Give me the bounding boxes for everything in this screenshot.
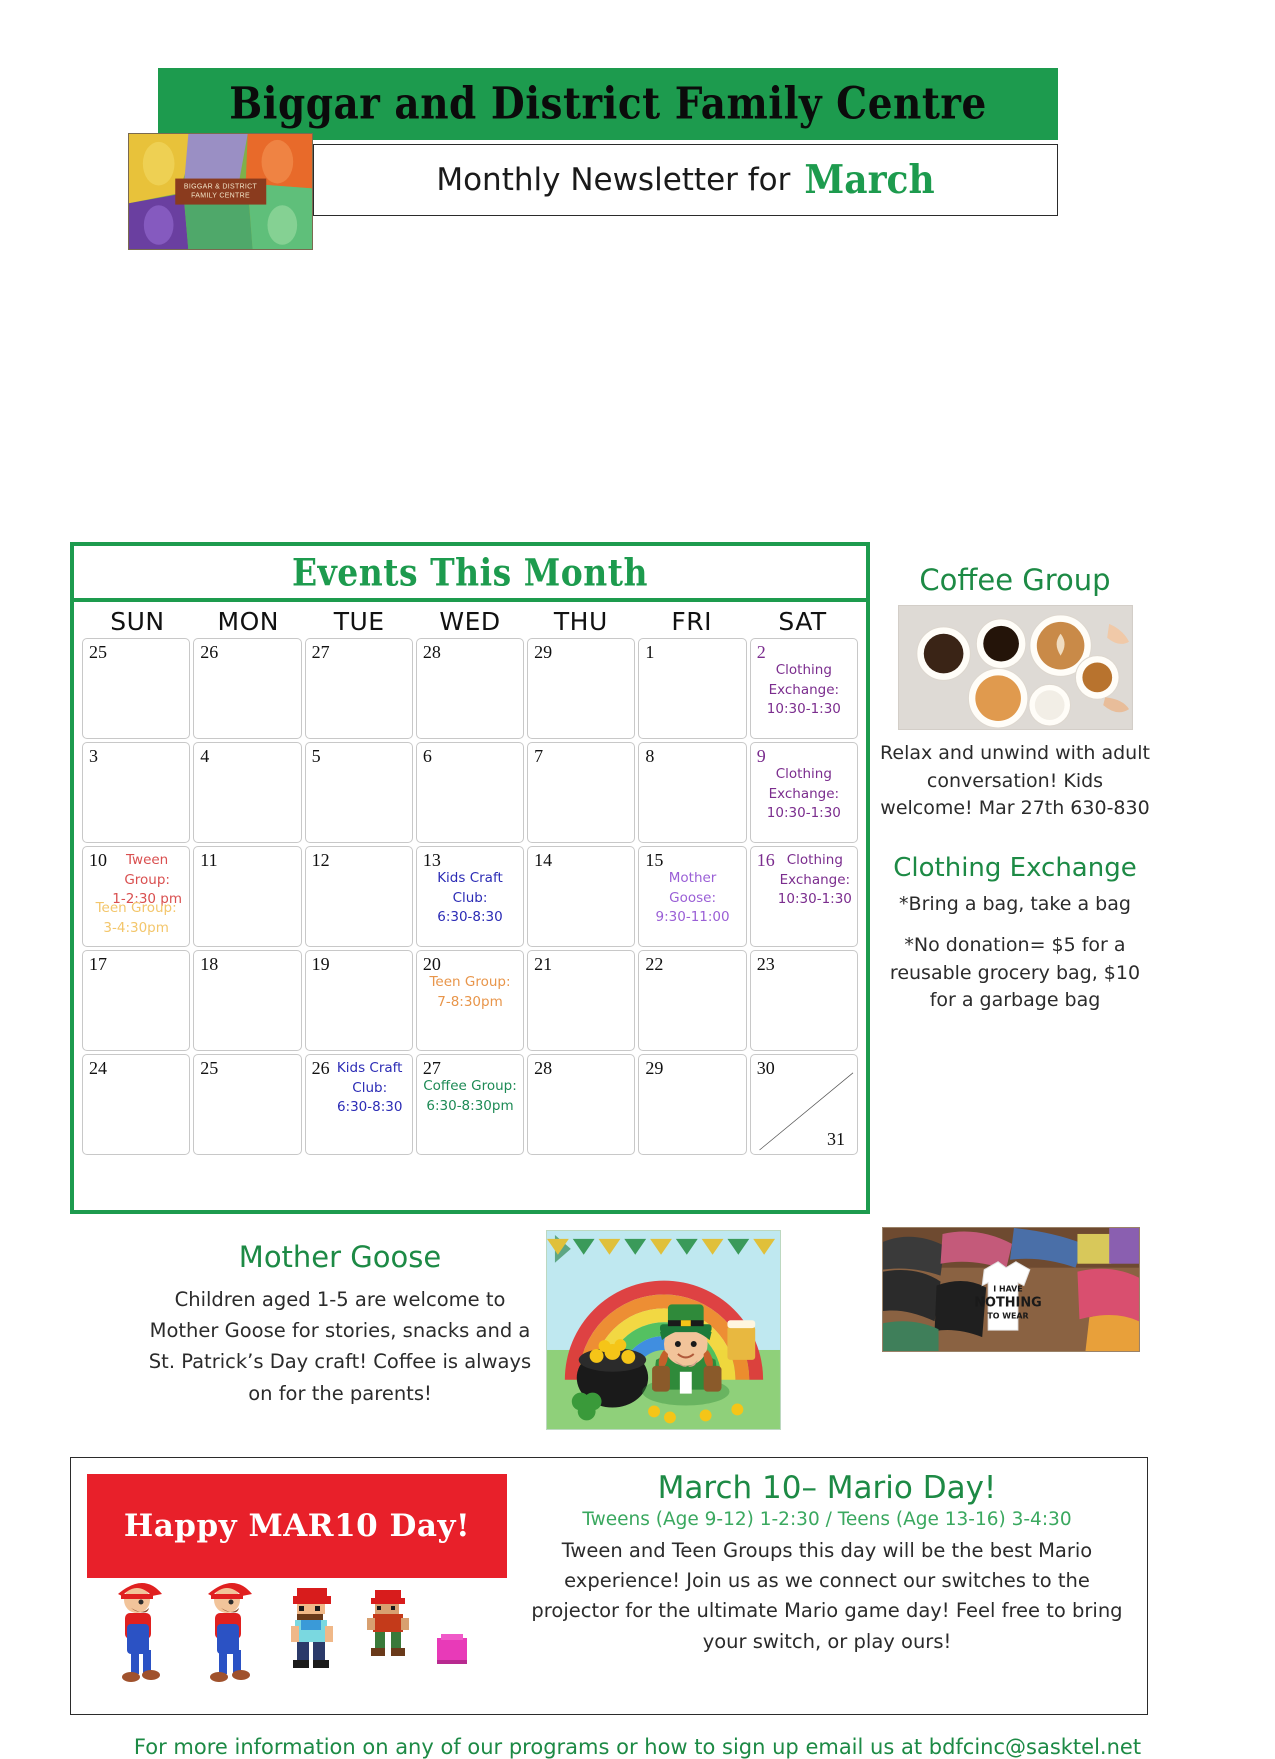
day-number: 10 — [89, 850, 107, 871]
calendar-day-cell[interactable]: 10Tween Group: 1-2:30 pmTeen Group: 3-4:… — [82, 846, 190, 947]
day-header-mon: MON — [193, 607, 304, 636]
calendar-week-row: 17181920Teen Group: 7-8:30pm212223 — [82, 950, 858, 1051]
day-number: 6 — [423, 746, 432, 767]
day-number: 14 — [534, 850, 552, 871]
day-number: 29 — [534, 642, 552, 663]
calendar-day-cell[interactable]: 28 — [527, 1054, 635, 1155]
mario-banner-text: Happy MAR10 Day! — [124, 1508, 470, 1544]
calendar-day-cell[interactable]: 19 — [305, 950, 413, 1051]
calendar-day-cell[interactable]: 12 — [305, 846, 413, 947]
mario-day-box: Happy MAR10 Day! — [70, 1457, 1148, 1715]
logo-text: BIGGAR & DISTRICT FAMILY CENTRE — [175, 178, 267, 205]
day-event-text: Clothing Exchange: 10:30-1:30 — [753, 661, 855, 720]
calendar-day-cell[interactable]: 29 — [527, 638, 635, 739]
calendar-day-cell[interactable]: 29 — [638, 1054, 746, 1155]
day-event-text: Coffee Group: 6:30-8:30pm — [419, 1077, 521, 1116]
day-number: 18 — [200, 954, 218, 975]
day-header-sat: SAT — [747, 607, 858, 636]
calendar-day-cell[interactable]: 20Teen Group: 7-8:30pm — [416, 950, 524, 1051]
calendar-day-cell[interactable]: 23 — [750, 950, 858, 1051]
org-title: Biggar and District Family Centre — [229, 78, 987, 130]
footer-contact-text: For more information on any of our progr… — [0, 1735, 1275, 1759]
leprechaun-rainbow-artwork — [547, 1231, 780, 1429]
clothing-exchange-line2: *No donation= $5 for a reusable grocery … — [880, 932, 1150, 1015]
day-number: 29 — [645, 1058, 663, 1079]
day-event-text: Teen Group: 7-8:30pm — [419, 973, 521, 1012]
calendar-day-cell[interactable]: 6 — [416, 742, 524, 843]
calendar-day-cell[interactable]: 3 — [82, 742, 190, 843]
calendar-day-cell[interactable]: 25 — [82, 638, 190, 739]
calendar-day-cell[interactable]: 3031 — [750, 1054, 858, 1155]
coffee-cups-illustration — [899, 606, 1132, 730]
coffee-cups-photo — [898, 605, 1133, 730]
calendar-day-cell[interactable]: 9Clothing Exchange: 10:30-1:30 — [750, 742, 858, 843]
calendar-day-cell[interactable]: 11 — [193, 846, 301, 947]
day-number: 28 — [534, 1058, 552, 1079]
events-calendar: Events This Month SUN MON TUE WED THU FR… — [70, 542, 870, 1214]
day-number: 17 — [89, 954, 107, 975]
coffee-group-heading: Coffee Group — [880, 563, 1150, 597]
day-number: 23 — [757, 954, 775, 975]
day-number: 25 — [200, 1058, 218, 1079]
calendar-week-row: 3456789Clothing Exchange: 10:30-1:30 — [82, 742, 858, 843]
day-number: 4 — [200, 746, 209, 767]
calendar-day-cell[interactable]: 15Mother Goose: 9:30-11:00 — [638, 846, 746, 947]
mother-goose-section: Mother Goose Children aged 1-5 are welco… — [145, 1240, 535, 1409]
mother-goose-body: Children aged 1-5 are welcome to Mother … — [145, 1284, 535, 1409]
day-header-wed: WED — [415, 607, 526, 636]
calendar-day-cell[interactable]: 27Coffee Group: 6:30-8:30pm — [416, 1054, 524, 1155]
day-number: 27 — [312, 642, 330, 663]
calendar-week-row: 242526Kids Craft Club: 6:30-8:3027Coffee… — [82, 1054, 858, 1155]
day-number: 19 — [312, 954, 330, 975]
calendar-day-cell[interactable]: 18 — [193, 950, 301, 1051]
mario-day-image: Happy MAR10 Day! — [87, 1474, 507, 1698]
day-number: 24 — [89, 1058, 107, 1079]
day-number: 2 — [757, 642, 766, 663]
calendar-title-bar: Events This Month — [74, 546, 866, 602]
clothing-pile-illustration: I HAVE NOTHING TO WEAR — [883, 1228, 1139, 1352]
day-number: 11 — [200, 850, 217, 871]
day-number: 9 — [757, 746, 766, 767]
day-number: 30 — [757, 1058, 775, 1079]
day-number: 13 — [423, 850, 441, 871]
calendar-day-cell[interactable]: 25 — [193, 1054, 301, 1155]
day-header-sun: SUN — [82, 607, 193, 636]
day-number: 25 — [89, 642, 107, 663]
mother-goose-heading: Mother Goose — [145, 1240, 535, 1274]
calendar-day-cell[interactable]: 16Clothing Exchange: 10:30-1:30 — [750, 846, 858, 947]
calendar-week-row: 10Tween Group: 1-2:30 pmTeen Group: 3-4:… — [82, 846, 858, 947]
calendar-day-cell[interactable]: 4 — [193, 742, 301, 843]
mario-day-body: Tween and Teen Groups this day will be t… — [521, 1536, 1133, 1657]
right-sidebar: Coffee Group Relax and unw — [880, 563, 1150, 1015]
calendar-day-cell[interactable]: 1 — [638, 638, 746, 739]
svg-text:NOTHING: NOTHING — [974, 1295, 1041, 1310]
day-number: 12 — [312, 850, 330, 871]
clothing-pile-photo: I HAVE NOTHING TO WEAR — [882, 1227, 1140, 1352]
calendar-day-cell[interactable]: 13Kids Craft Club: 6:30-8:30 — [416, 846, 524, 947]
svg-text:TO WEAR: TO WEAR — [987, 1311, 1028, 1320]
newsletter-month: March — [804, 157, 934, 203]
day-number: 16 — [757, 850, 775, 871]
newsletter-label: Monthly Newsletter for — [436, 162, 790, 198]
calendar-day-cell[interactable]: 22 — [638, 950, 746, 1051]
day-number: 7 — [534, 746, 543, 767]
day-number: 22 — [645, 954, 663, 975]
day-number: 1 — [645, 642, 654, 663]
day-number: 5 — [312, 746, 321, 767]
mario-day-heading: March 10– Mario Day! — [521, 1470, 1133, 1506]
org-title-banner: Biggar and District Family Centre — [158, 68, 1058, 140]
day-number: 28 — [423, 642, 441, 663]
calendar-day-cell[interactable]: 26Kids Craft Club: 6:30-8:30 — [305, 1054, 413, 1155]
page-header: Biggar and District Family Centre BIGGAR… — [0, 0, 1275, 265]
day-number: 3 — [89, 746, 98, 767]
coffee-group-body: Relax and unwind with adult conversation… — [880, 740, 1150, 823]
calendar-weeks: 252627282912Clothing Exchange: 10:30-1:3… — [74, 638, 866, 1166]
calendar-day-cell[interactable]: 2Clothing Exchange: 10:30-1:30 — [750, 638, 858, 739]
calendar-week-row: 252627282912Clothing Exchange: 10:30-1:3… — [82, 638, 858, 739]
day-number: 27 — [423, 1058, 441, 1079]
day-number-secondary: 31 — [827, 1129, 845, 1150]
mario-characters-illustration — [87, 1578, 507, 1698]
calendar-day-cell[interactable]: 14 — [527, 846, 635, 947]
mario-day-subheading: Tweens (Age 9-12) 1-2:30 / Teens (Age 13… — [521, 1509, 1133, 1530]
day-event-text: Kids Craft Club: 6:30-8:30 — [419, 869, 521, 928]
day-number: 8 — [645, 746, 654, 767]
calendar-day-cell[interactable]: 5 — [305, 742, 413, 843]
day-event-text: Clothing Exchange: 10:30-1:30 — [753, 765, 855, 824]
mario-day-text-block: March 10– Mario Day! Tweens (Age 9-12) 1… — [521, 1470, 1133, 1657]
svg-text:I HAVE: I HAVE — [993, 1284, 1022, 1293]
calendar-day-cell[interactable]: 24 — [82, 1054, 190, 1155]
day-header-thu: THU — [525, 607, 636, 636]
calendar-day-cell[interactable]: 17 — [82, 950, 190, 1051]
day-number: 21 — [534, 954, 552, 975]
calendar-day-headers: SUN MON TUE WED THU FRI SAT — [74, 602, 866, 638]
calendar-day-cell[interactable]: 8 — [638, 742, 746, 843]
day-header-fri: FRI — [636, 607, 747, 636]
calendar-title: Events This Month — [292, 550, 648, 594]
calendar-day-cell[interactable]: 26 — [193, 638, 301, 739]
newsletter-title-box: Monthly Newsletter for March — [313, 144, 1058, 216]
calendar-day-cell[interactable]: 27 — [305, 638, 413, 739]
day-number: 20 — [423, 954, 441, 975]
calendar-day-cell[interactable]: 7 — [527, 742, 635, 843]
calendar-day-cell[interactable]: 28 — [416, 638, 524, 739]
day-number: 15 — [645, 850, 663, 871]
organization-logo: BIGGAR & DISTRICT FAMILY CENTRE — [128, 133, 313, 250]
day-header-tue: TUE — [304, 607, 415, 636]
day-event-text: Mother Goose: 9:30-11:00 — [641, 869, 743, 928]
calendar-day-cell[interactable]: 21 — [527, 950, 635, 1051]
day-event-text-secondary: Teen Group: 3-4:30pm — [85, 899, 187, 938]
day-number: 26 — [200, 642, 218, 663]
clothing-exchange-line1: *Bring a bag, take a bag — [880, 891, 1150, 919]
st-patricks-leprechaun-illustration — [546, 1230, 781, 1430]
clothing-exchange-heading: Clothing Exchange — [880, 853, 1150, 883]
day-number: 26 — [312, 1058, 330, 1079]
